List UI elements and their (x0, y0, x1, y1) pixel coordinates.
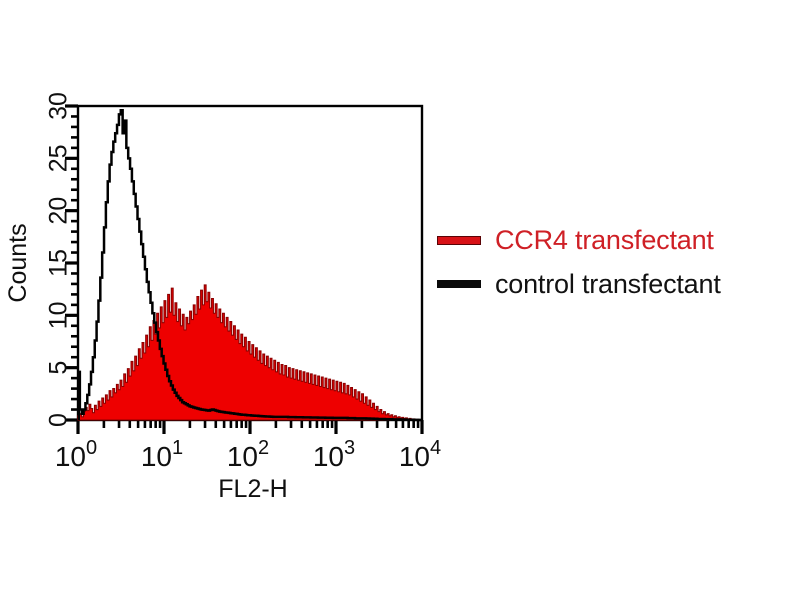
y-tick-label: 30 (45, 92, 73, 120)
flow-cytometry-figure: 051015202530 100101102103104 Counts FL2-… (0, 0, 800, 600)
y-tick-label: 15 (45, 249, 73, 277)
legend-label-control: control transfectant (495, 269, 721, 299)
legend-line-black-icon (437, 280, 481, 288)
legend-item-ccr4: CCR4 transfectant (437, 218, 797, 262)
y-tick-label: 25 (45, 144, 73, 172)
y-tick-label: 5 (45, 361, 73, 375)
y-tick-label: 10 (45, 301, 73, 329)
legend-label-ccr4: CCR4 transfectant (495, 225, 714, 255)
legend: CCR4 transfectant control transfectant (437, 218, 797, 306)
y-tick-label: 20 (45, 197, 73, 225)
x-axis-title: FL2-H (218, 475, 287, 503)
legend-item-control: control transfectant (437, 262, 797, 306)
y-axis-title: Counts (4, 223, 32, 302)
y-tick-label: 0 (45, 413, 73, 427)
black-left-spike (78, 372, 80, 420)
legend-line-red-icon (437, 236, 481, 245)
